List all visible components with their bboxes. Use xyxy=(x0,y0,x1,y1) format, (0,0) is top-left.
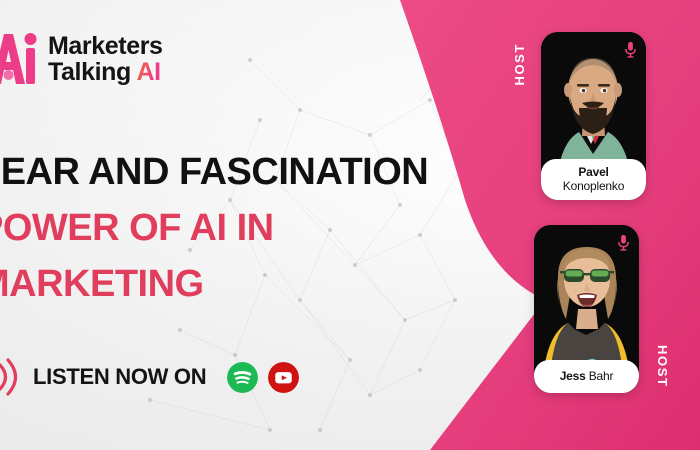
headline-line-1: FEAR AND FASCINATION xyxy=(0,144,428,200)
listen-now-bar: LISTEN NOW ON xyxy=(0,358,299,396)
host-last-name: Konoplenko xyxy=(545,179,642,193)
host-nameplate-jess: Jess Bahr xyxy=(534,360,639,393)
platform-badges xyxy=(227,362,299,393)
listen-now-label: LISTEN NOW ON xyxy=(33,364,206,390)
microphone-icon xyxy=(617,234,630,251)
host-card-pavel[interactable]: Pavel Konoplenko xyxy=(541,32,646,200)
youtube-icon[interactable] xyxy=(268,362,299,393)
brand-talking-text: Talking xyxy=(48,58,136,86)
host-first-name: Jess xyxy=(560,369,589,383)
host-first-name: Pavel xyxy=(545,165,642,179)
podcast-cover-poster: Marketers Talking AI FEAR AND FASCINATIO… xyxy=(0,0,700,450)
headline-line-2: POWER OF AI IN xyxy=(0,200,428,256)
spotify-icon[interactable] xyxy=(227,362,258,393)
host-nameplate-pavel: Pavel Konoplenko xyxy=(541,159,646,200)
microphone-icon xyxy=(624,41,637,58)
brand-name-line2: Talking AI xyxy=(48,59,163,85)
headline-line-3: MARKETING xyxy=(0,256,428,312)
host-last-name: Bahr xyxy=(589,369,614,383)
host-card-jess[interactable]: Jess Bahr xyxy=(534,225,639,393)
episode-headline: FEAR AND FASCINATION POWER OF AI IN MARK… xyxy=(0,144,428,313)
host-label-1: HOST xyxy=(512,43,527,86)
sound-wave-icon xyxy=(0,358,20,396)
brand-ai-text: AI xyxy=(136,58,160,86)
brand-logo: Marketers Talking AI xyxy=(0,28,163,90)
brand-wordmark: Marketers Talking AI xyxy=(48,33,163,86)
brand-name-line1: Marketers xyxy=(48,33,163,59)
host-label-2: HOST xyxy=(655,345,670,388)
ai-monogram-icon xyxy=(0,28,38,90)
